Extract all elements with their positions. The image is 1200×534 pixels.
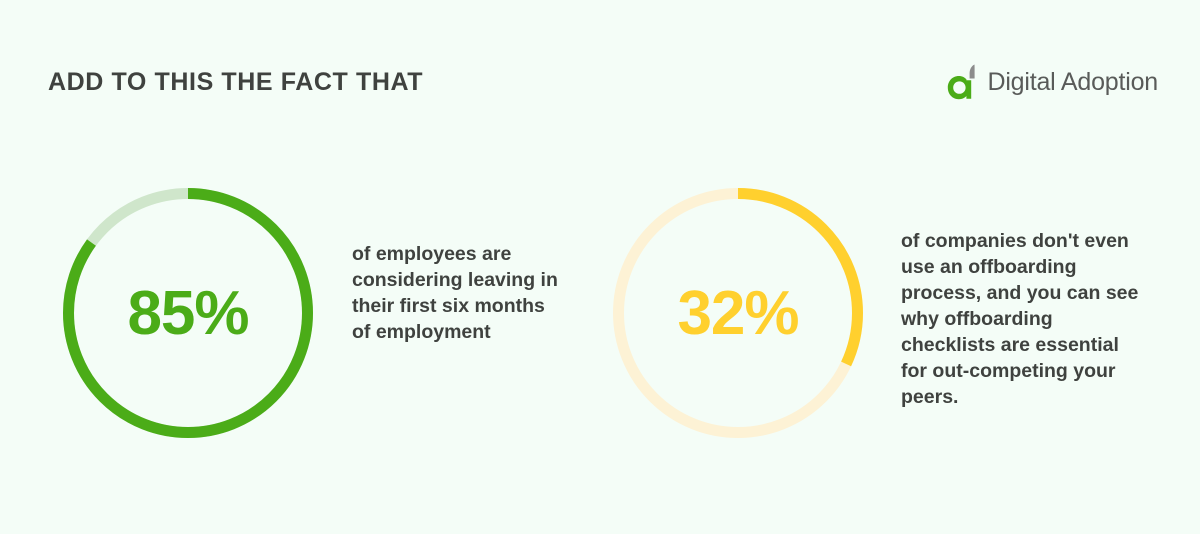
stat-caption-32: of companies don't even use an offboardi… (901, 229, 1146, 410)
stat-block-85: 85% of employees are considering leaving… (63, 188, 567, 438)
stat-block-32: 32% of companies don't even use an offbo… (613, 188, 1146, 438)
brand-logo: Digital Adoption (947, 62, 1158, 102)
donut-value-32: 32% (613, 188, 863, 438)
digital-adoption-logo-icon (947, 62, 981, 102)
donut-chart-85: 85% (63, 188, 313, 438)
donut-value-85: 85% (63, 188, 313, 438)
infographic-canvas: ADD TO THIS THE FACT THAT Digital Adopti… (0, 0, 1200, 534)
brand-name: Digital Adoption (987, 68, 1158, 97)
stat-caption-85: of employees are considering leaving in … (352, 242, 567, 346)
page-title: ADD TO THIS THE FACT THAT (48, 68, 423, 97)
donut-chart-32: 32% (613, 188, 863, 438)
